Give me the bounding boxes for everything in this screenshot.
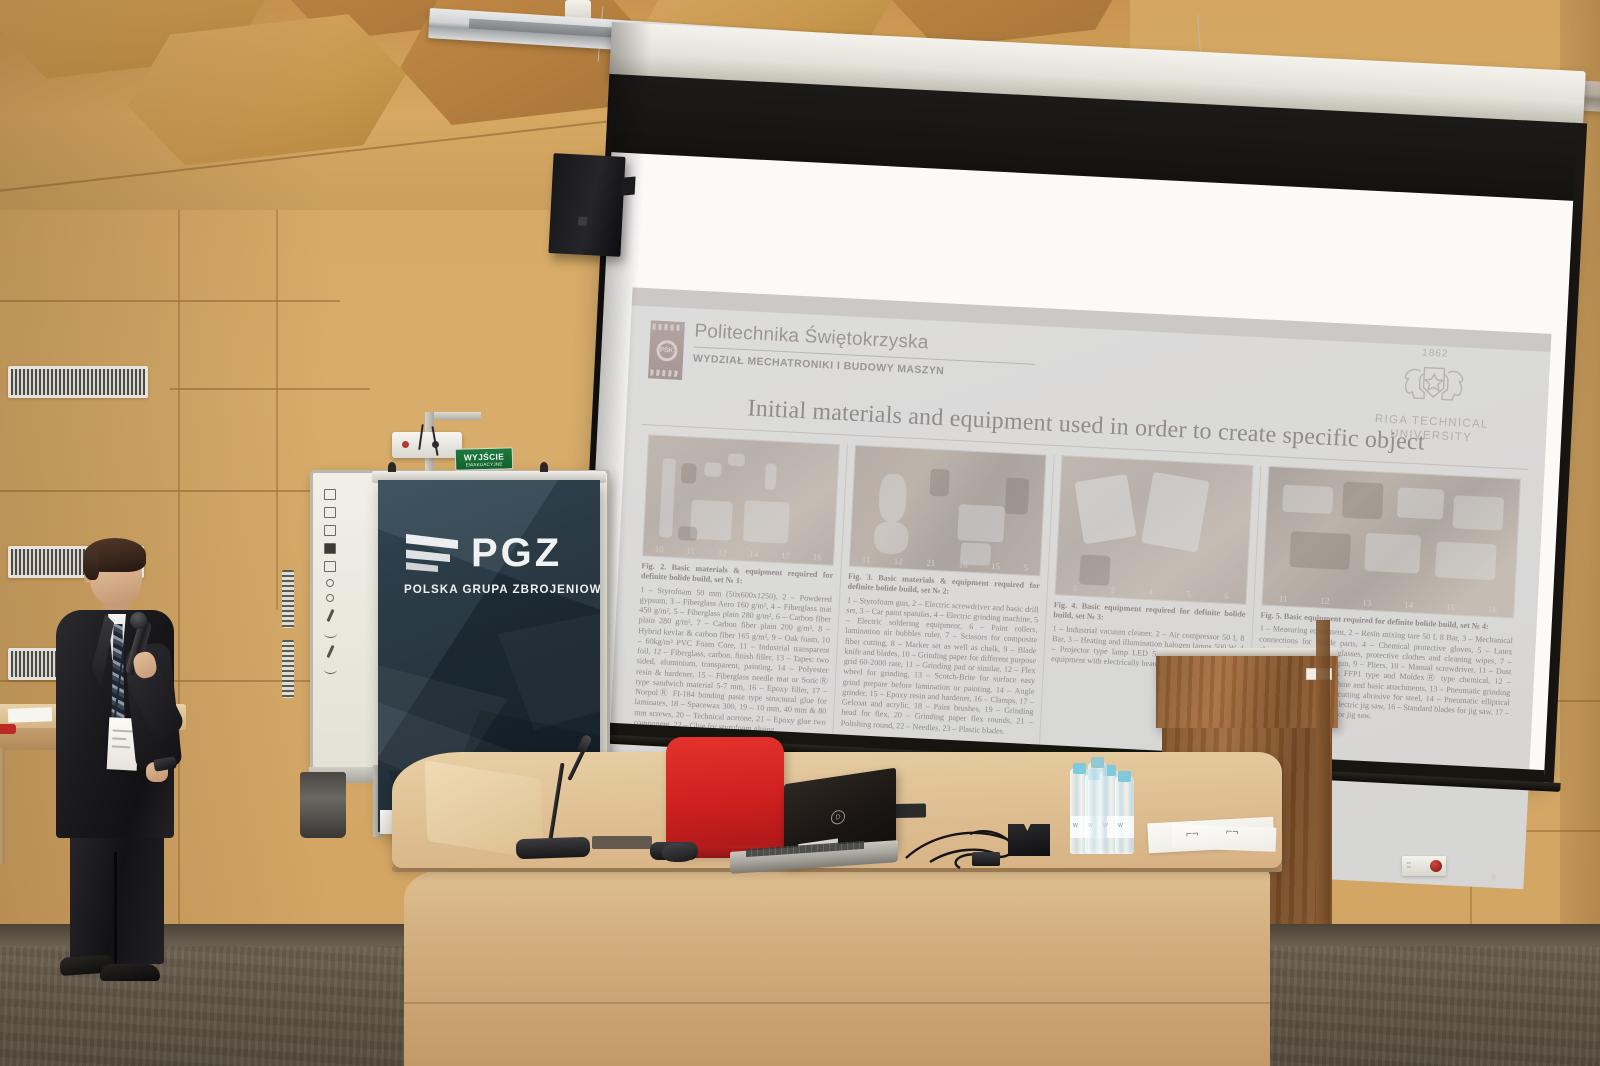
rtu-logo: 1862 RIGA TECHNICAL UNIVERSITY — [1358, 344, 1509, 447]
exit-sign-line2: EWAKUACYJNE — [466, 461, 503, 467]
figure-photo: 101112141716 — [642, 434, 840, 566]
eraser-icon[interactable] — [324, 629, 337, 638]
figure-photo: 12456 — [1054, 455, 1253, 605]
wall-vent — [282, 570, 294, 628]
lecture-hall-photo: PŚK Politechnika Świętokrzyska WYDZIAŁ M… — [0, 0, 1600, 1066]
presenter-trouser-seam — [114, 852, 117, 964]
emergency-stop-button-icon[interactable] — [1430, 860, 1442, 872]
computer-mouse[interactable] — [662, 843, 694, 862]
marker-icon[interactable] — [326, 645, 334, 658]
wall-seam — [276, 180, 278, 610]
bottle-cap-icon — [1073, 763, 1086, 774]
whiteboard-toolbar[interactable] — [319, 481, 341, 751]
figure-caption-title: Fig. 3. Basic materials & equipment requ… — [847, 572, 1040, 596]
emergency-stop-panel[interactable]: ▪▪▪▪▪▪ — [1402, 856, 1446, 876]
emergency-light — [392, 432, 462, 458]
dot-small-icon[interactable] — [326, 579, 334, 587]
figure-caption-title: Fig. 2. Basic materials & equipment requ… — [641, 561, 834, 585]
wall-seam — [0, 490, 340, 492]
fill-color-icon[interactable] — [324, 543, 336, 554]
figure-photo: 11122116155 — [849, 445, 1047, 577]
lectern-head — [1156, 656, 1338, 728]
presenter-shoe — [100, 964, 160, 981]
desk-seam — [404, 1002, 1270, 1004]
wall-seam — [0, 300, 340, 302]
waste-bin — [300, 772, 346, 838]
banner-clip — [540, 462, 548, 472]
speaker-bracket — [621, 177, 636, 196]
figure-caption: Fig. 2. Basic materials & equipment requ… — [633, 561, 833, 738]
indicator-led-icon — [402, 441, 409, 448]
bottle-cap-icon — [1091, 757, 1104, 768]
lectern-top-edge — [1156, 648, 1338, 656]
red-object-on-table — [0, 724, 16, 734]
psk-logo-text: PŚK — [655, 339, 677, 361]
document-icon[interactable] — [324, 525, 336, 536]
usb-adapter — [972, 852, 1000, 866]
wall-vent — [8, 366, 148, 398]
microphone-base — [516, 837, 591, 860]
pen-icon[interactable] — [326, 609, 334, 622]
desk-cables — [900, 818, 1080, 878]
presenter — [34, 536, 184, 996]
wall-vent — [282, 640, 294, 698]
presenter-legs — [70, 832, 164, 964]
pgz-logo-lockup: PGZ POLSKA GRUPA ZBROJENIOWA — [404, 532, 576, 596]
slide-page-number: 9 — [1491, 872, 1497, 882]
screen-surface: PŚK Politechnika Świętokrzyska WYDZIAŁ M… — [582, 152, 1573, 775]
copy-icon[interactable] — [324, 507, 336, 518]
chair — [666, 737, 784, 853]
figure-photo: 111213141516 — [1261, 466, 1521, 619]
desk-front-panel — [404, 868, 1270, 1066]
undo-icon[interactable] — [324, 665, 337, 674]
water-bottles: W W W W — [1070, 748, 1140, 854]
figure-caption-body: 1 – Styrofoam gun, 2 – Electric screwdri… — [840, 595, 1038, 738]
rtu-crest-icon — [1377, 357, 1491, 411]
desk-black-pad — [592, 836, 652, 849]
emergency-panel-label: ▪▪▪▪▪▪ — [1407, 862, 1411, 869]
pgz-arrow-icon — [404, 532, 462, 574]
paper-marking: ⌐¬ — [1186, 828, 1199, 841]
figure-photo-numbers: 12456 — [1056, 582, 1246, 602]
pgz-wordmark: PGZ — [471, 533, 562, 573]
psk-logo-icon: PŚK — [648, 320, 685, 380]
slide-faculty: WYDZIAŁ MECHATRONIKI I BUDOWY MASZYN — [693, 353, 945, 378]
table-leg — [0, 748, 5, 864]
figure-caption: Fig. 3. Basic materials & equipment requ… — [840, 572, 1040, 738]
exit-sign: WYJŚCIE EWAKUACYJNE — [455, 447, 514, 471]
paper-marking: ⌐¬ — [1226, 826, 1239, 839]
banner-clip — [388, 462, 396, 472]
pgz-tagline: POLSKA GRUPA ZBROJENIOWA — [404, 583, 576, 596]
wall-seam — [170, 388, 370, 390]
figure-photo-numbers: 11122116155 — [850, 554, 1040, 574]
page-icon[interactable] — [324, 489, 336, 500]
add-icon[interactable] — [324, 561, 336, 572]
bottle-cap-icon — [1118, 771, 1131, 782]
wall-speaker — [548, 153, 625, 257]
dell-logo-icon: D — [831, 809, 845, 825]
projection-screen: PŚK Politechnika Świętokrzyska WYDZIAŁ M… — [576, 22, 1596, 791]
figure-photo-numbers: 101112141716 — [643, 543, 833, 563]
presenter-hair — [83, 550, 99, 580]
figure-caption-body: 1 – Styrofoam 50 mm (50x600x1250), 2 – P… — [633, 585, 832, 738]
device-holder — [1008, 824, 1050, 856]
dot-medium-icon[interactable] — [326, 594, 334, 602]
speaker-driver-icon — [578, 217, 587, 226]
